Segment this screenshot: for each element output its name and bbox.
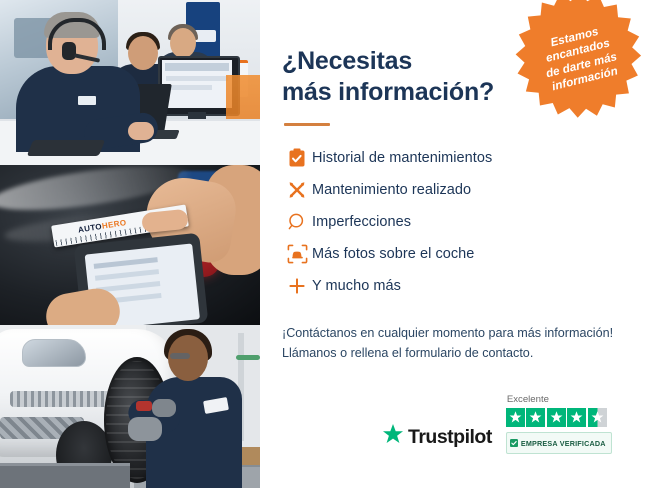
trustpilot-star-rating <box>506 408 607 427</box>
feature-item-maintenance-done: Mantenimiento realizado <box>282 174 626 205</box>
trustpilot-logo[interactable]: Trustpilot <box>382 424 492 454</box>
tools-cross-icon <box>282 180 312 200</box>
trustpilot-star-icon <box>382 424 404 450</box>
monitor-row-shape <box>166 76 228 81</box>
headlight-shape <box>22 339 86 367</box>
feature-item-imperfections: Imperfecciones <box>282 206 626 237</box>
mechanic-glove-shape <box>128 417 162 441</box>
contact-text: ¡Contáctanos en cualquier momento para m… <box>282 323 626 364</box>
feature-label: Y mucho más <box>312 278 401 294</box>
trustpilot-rating-block: Excelente EMPRESA VERIFICADA <box>506 394 612 454</box>
workshop-hose-shape <box>236 355 260 360</box>
feature-item-more-photos: Más fotos sobre el coche <box>282 238 626 269</box>
mechanic-wheel-inspection-photo <box>0 325 260 488</box>
clipboard-check-icon <box>282 148 312 168</box>
content-panel: ¿Necesitas más información? Historial de… <box>260 0 650 488</box>
call-centre-agents-photo <box>0 0 260 165</box>
trustpilot-rating-label: Excelente <box>507 394 549 405</box>
trustpilot-wordmark: Trustpilot <box>408 426 492 449</box>
feature-label: Imperfecciones <box>312 214 411 230</box>
rating-star-4 <box>567 408 586 427</box>
contact-line-2: Llámanos o rellena el formulario de cont… <box>282 343 626 363</box>
feature-item-much-more: Y mucho más <box>282 270 626 301</box>
car-lift-ramp-shape <box>0 463 130 488</box>
hand-tool-shape <box>136 401 152 411</box>
information-banner: AUTOHERO <box>0 0 650 488</box>
title-divider <box>284 123 330 126</box>
rating-star-2 <box>526 408 545 427</box>
contact-line-1: ¡Contáctanos en cualquier momento para m… <box>282 323 626 343</box>
headline-line-1: ¿Necesitas <box>282 47 412 75</box>
verified-check-icon <box>510 434 518 452</box>
agent-two-head-shape <box>128 36 158 70</box>
agent-one-hand-shape <box>128 122 154 140</box>
magnifier-icon <box>282 212 312 232</box>
rating-star-3 <box>547 408 566 427</box>
car-photo-frame-icon <box>282 244 312 264</box>
desk-tablet-shape <box>27 140 105 156</box>
feature-label: Mantenimiento realizado <box>312 182 471 198</box>
feature-list: Historial de mantenimientos M <box>282 142 626 301</box>
feature-label: Historial de mantenimientos <box>312 150 492 166</box>
plus-icon <box>282 276 312 296</box>
agent-one-badge-shape <box>78 96 96 105</box>
rating-star-1 <box>506 408 525 427</box>
rating-star-5-half <box>588 408 607 427</box>
verified-company-badge: EMPRESA VERIFICADA <box>506 432 612 454</box>
monitor-toolbar-shape <box>165 63 229 71</box>
car-inspection-ruler-photo: AUTOHERO <box>0 165 260 325</box>
trustpilot-widget[interactable]: Trustpilot Excelente EMPRESA VERIFICADA <box>382 394 612 454</box>
feature-label: Más fotos sobre el coche <box>312 246 474 262</box>
mechanic-upper-glove-shape <box>152 399 176 417</box>
agent-three-head-shape <box>170 28 196 58</box>
safety-glasses-shape <box>170 353 190 359</box>
promo-starburst-badge: Estamos encantados de darte más informac… <box>515 0 643 119</box>
photo-column: AUTOHERO <box>0 0 260 488</box>
monitor-row-secondary-shape <box>166 85 212 90</box>
headline-line-2: más información? <box>282 78 494 106</box>
verified-company-label: EMPRESA VERIFICADA <box>521 439 606 448</box>
feature-item-service-history: Historial de mantenimientos <box>282 142 626 173</box>
